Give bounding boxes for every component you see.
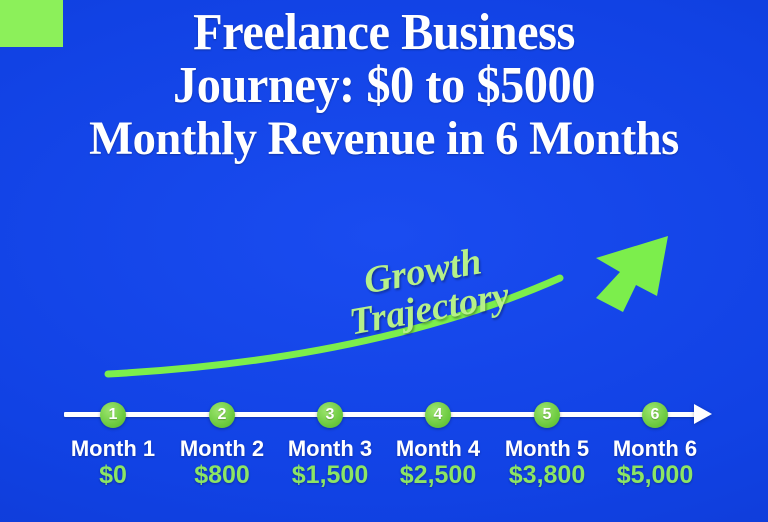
timeline-node-4[interactable]: 4 [425,402,451,428]
timeline-node-5[interactable]: 5 [534,402,560,428]
timeline-node-2[interactable]: 2 [209,402,235,428]
revenue-value-6: $5,000 [580,462,730,489]
timeline-node-3[interactable]: 3 [317,402,343,428]
month-label-6: Month 6 [580,437,730,461]
timeline-node-number: 2 [218,407,227,423]
timeline-node-number: 1 [109,407,118,423]
timeline-node-number: 4 [434,407,443,423]
timeline-node-1[interactable]: 1 [100,402,126,428]
timeline-node-6[interactable]: 6 [642,402,668,428]
timeline: 1 2 3 4 5 6 Month 1 Month 2 Month 3 Mont… [0,0,768,522]
timeline-node-number: 3 [326,407,335,423]
timeline-arrow-icon [694,404,712,424]
timeline-node-number: 5 [543,407,552,423]
timeline-axis [64,412,700,417]
infographic-poster: Freelance Business Journey: $0 to $5000 … [0,0,768,522]
timeline-node-number: 6 [651,407,660,423]
